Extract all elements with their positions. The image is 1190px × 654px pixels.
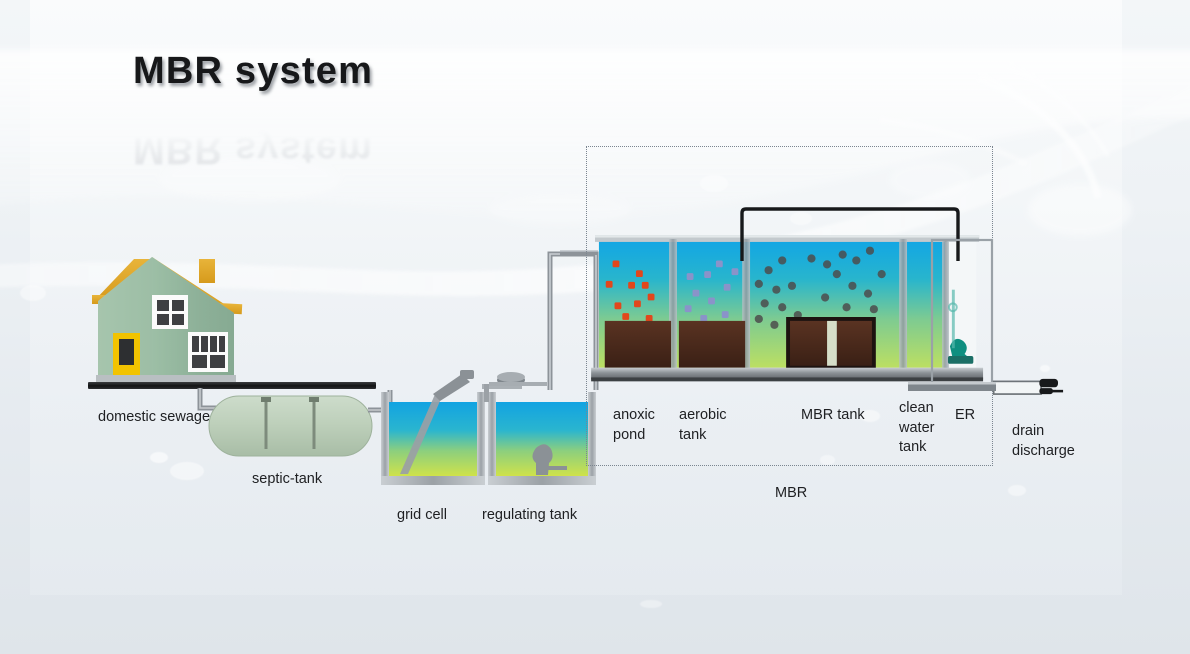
- label-drain-discharge: drain discharge: [1012, 422, 1075, 461]
- drain-discharge-outlet: [986, 378, 1086, 400]
- label-mbr-group: MBR: [775, 484, 807, 504]
- house-icon: [88, 255, 268, 390]
- membrane-module-mbr: [786, 317, 876, 370]
- label-regulating-tank: regulating tank: [482, 506, 577, 526]
- septic-tank: [208, 395, 373, 457]
- label-aerobic-tank: aerobic tank: [679, 406, 727, 445]
- label-er: ER: [955, 406, 975, 426]
- page-title: MBR system: [133, 50, 373, 93]
- clean-water-tank-frame: [930, 238, 996, 390]
- membrane-module-anoxic: [605, 321, 671, 368]
- label-septic-tank: septic-tank: [252, 470, 322, 490]
- label-anoxic-pond: anoxic pond: [613, 406, 655, 445]
- label-clean-water-tank: clean water tank: [899, 399, 934, 458]
- diagram-canvas: MBR system MBR system: [0, 0, 1190, 654]
- label-mbr-tank: MBR tank: [801, 406, 865, 426]
- membrane-module-aerobic: [679, 321, 745, 368]
- grid-cell-tank: [378, 370, 488, 488]
- er-to-drain-pipe: [908, 380, 998, 394]
- label-grid-cell: grid cell: [397, 506, 447, 526]
- label-domestic-sewage: domestic sewage: [98, 408, 210, 428]
